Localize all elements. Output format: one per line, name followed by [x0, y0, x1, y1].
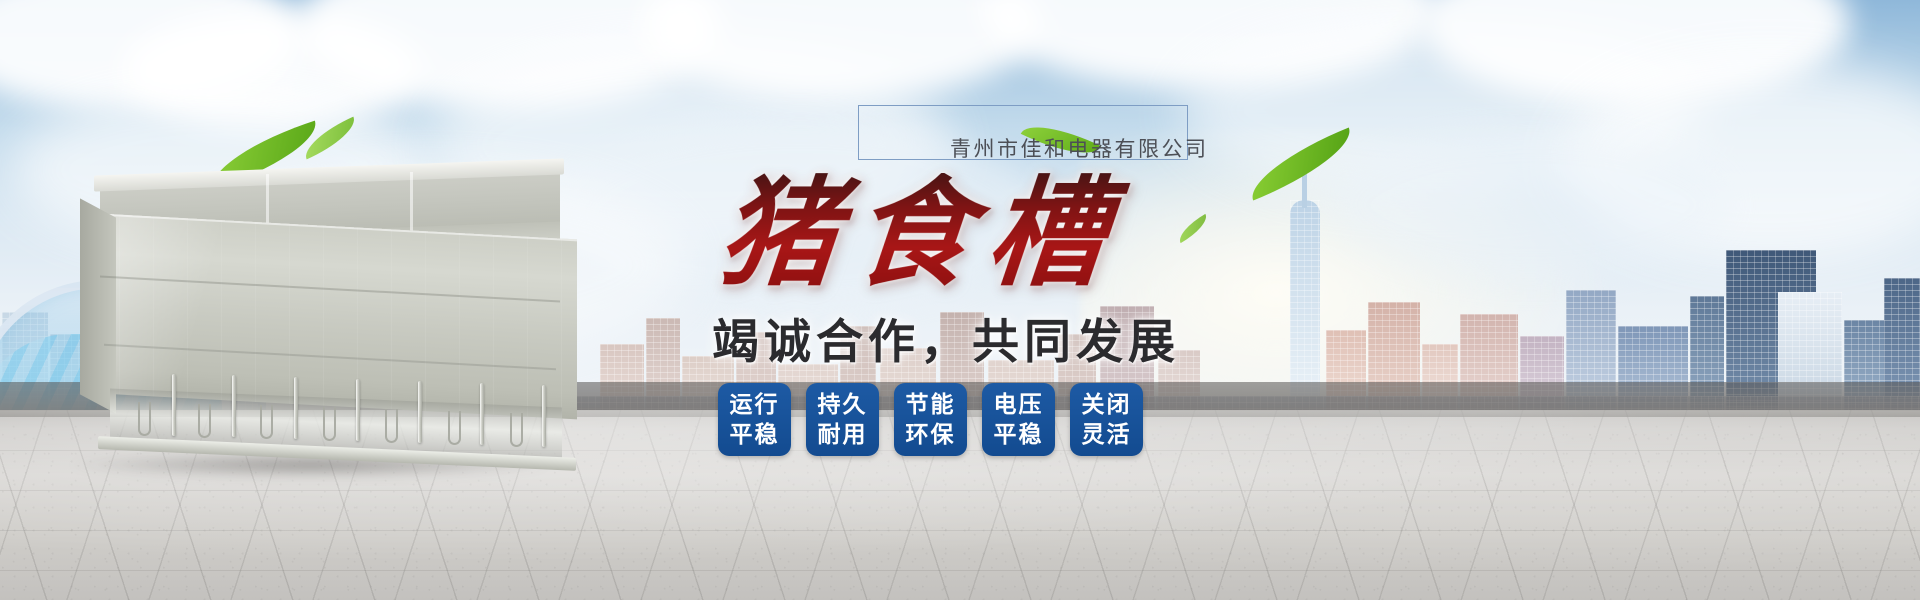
trough-divider [418, 381, 422, 443]
feed-hook [138, 402, 151, 436]
badge-line-1: 运行 [730, 390, 780, 420]
weld-seam [410, 172, 413, 236]
company-name: 青州市佳和电器有限公司 [950, 133, 1209, 163]
badge-line-2: 灵活 [1082, 420, 1132, 450]
badge-line-1: 电压 [994, 390, 1044, 420]
feature-badge-list: 运行 平稳 持久 耐用 节能 环保 电压 平稳 关闭 灵活 [718, 383, 1143, 456]
company-name-underline [858, 159, 934, 160]
badge-line-1: 关闭 [1082, 390, 1132, 420]
product-image-pig-feeding-trough [80, 160, 580, 460]
feed-hook [323, 407, 336, 441]
page-title: 猪食槽 [715, 173, 1285, 293]
badge-line-2: 平稳 [730, 420, 780, 450]
badge-line-2: 环保 [906, 420, 956, 450]
feature-badge-chijiu-naiyong[interactable]: 持久 耐用 [806, 383, 879, 456]
banner-text-block: 青州市佳和电器有限公司 猪食槽 竭诚合作，共同发展 运行 平稳 持久 耐用 节能… [700, 95, 1480, 555]
badge-line-1: 持久 [818, 390, 868, 420]
feature-badge-yunxing-pingwen[interactable]: 运行 平稳 [718, 383, 791, 456]
feed-hook [385, 409, 398, 443]
feed-hook [448, 411, 461, 445]
feed-hook [198, 404, 211, 438]
feature-badge-guanbi-linghuo[interactable]: 关闭 灵活 [1070, 383, 1143, 456]
feature-badge-dianya-pingwen[interactable]: 电压 平稳 [982, 383, 1055, 456]
feature-badge-jieneng-huanbao[interactable]: 节能 环保 [894, 383, 967, 456]
trough-divider [232, 375, 236, 437]
promo-banner: 青州市佳和电器有限公司 猪食槽 竭诚合作，共同发展 运行 平稳 持久 耐用 节能… [0, 0, 1920, 600]
trough-divider [542, 385, 546, 447]
trough-divider [294, 377, 298, 439]
feed-hook [510, 413, 523, 447]
badge-line-2: 耐用 [818, 420, 868, 450]
banner-subtitle: 竭诚合作，共同发展 [712, 303, 1180, 372]
feed-hook [260, 405, 273, 439]
badge-line-2: 平稳 [994, 420, 1044, 450]
trough-sheen [85, 213, 577, 420]
trough-left-side [80, 198, 116, 413]
trough-divider [480, 383, 484, 445]
trough-divider [172, 374, 176, 436]
trough-divider [356, 379, 360, 441]
badge-line-1: 节能 [906, 390, 956, 420]
